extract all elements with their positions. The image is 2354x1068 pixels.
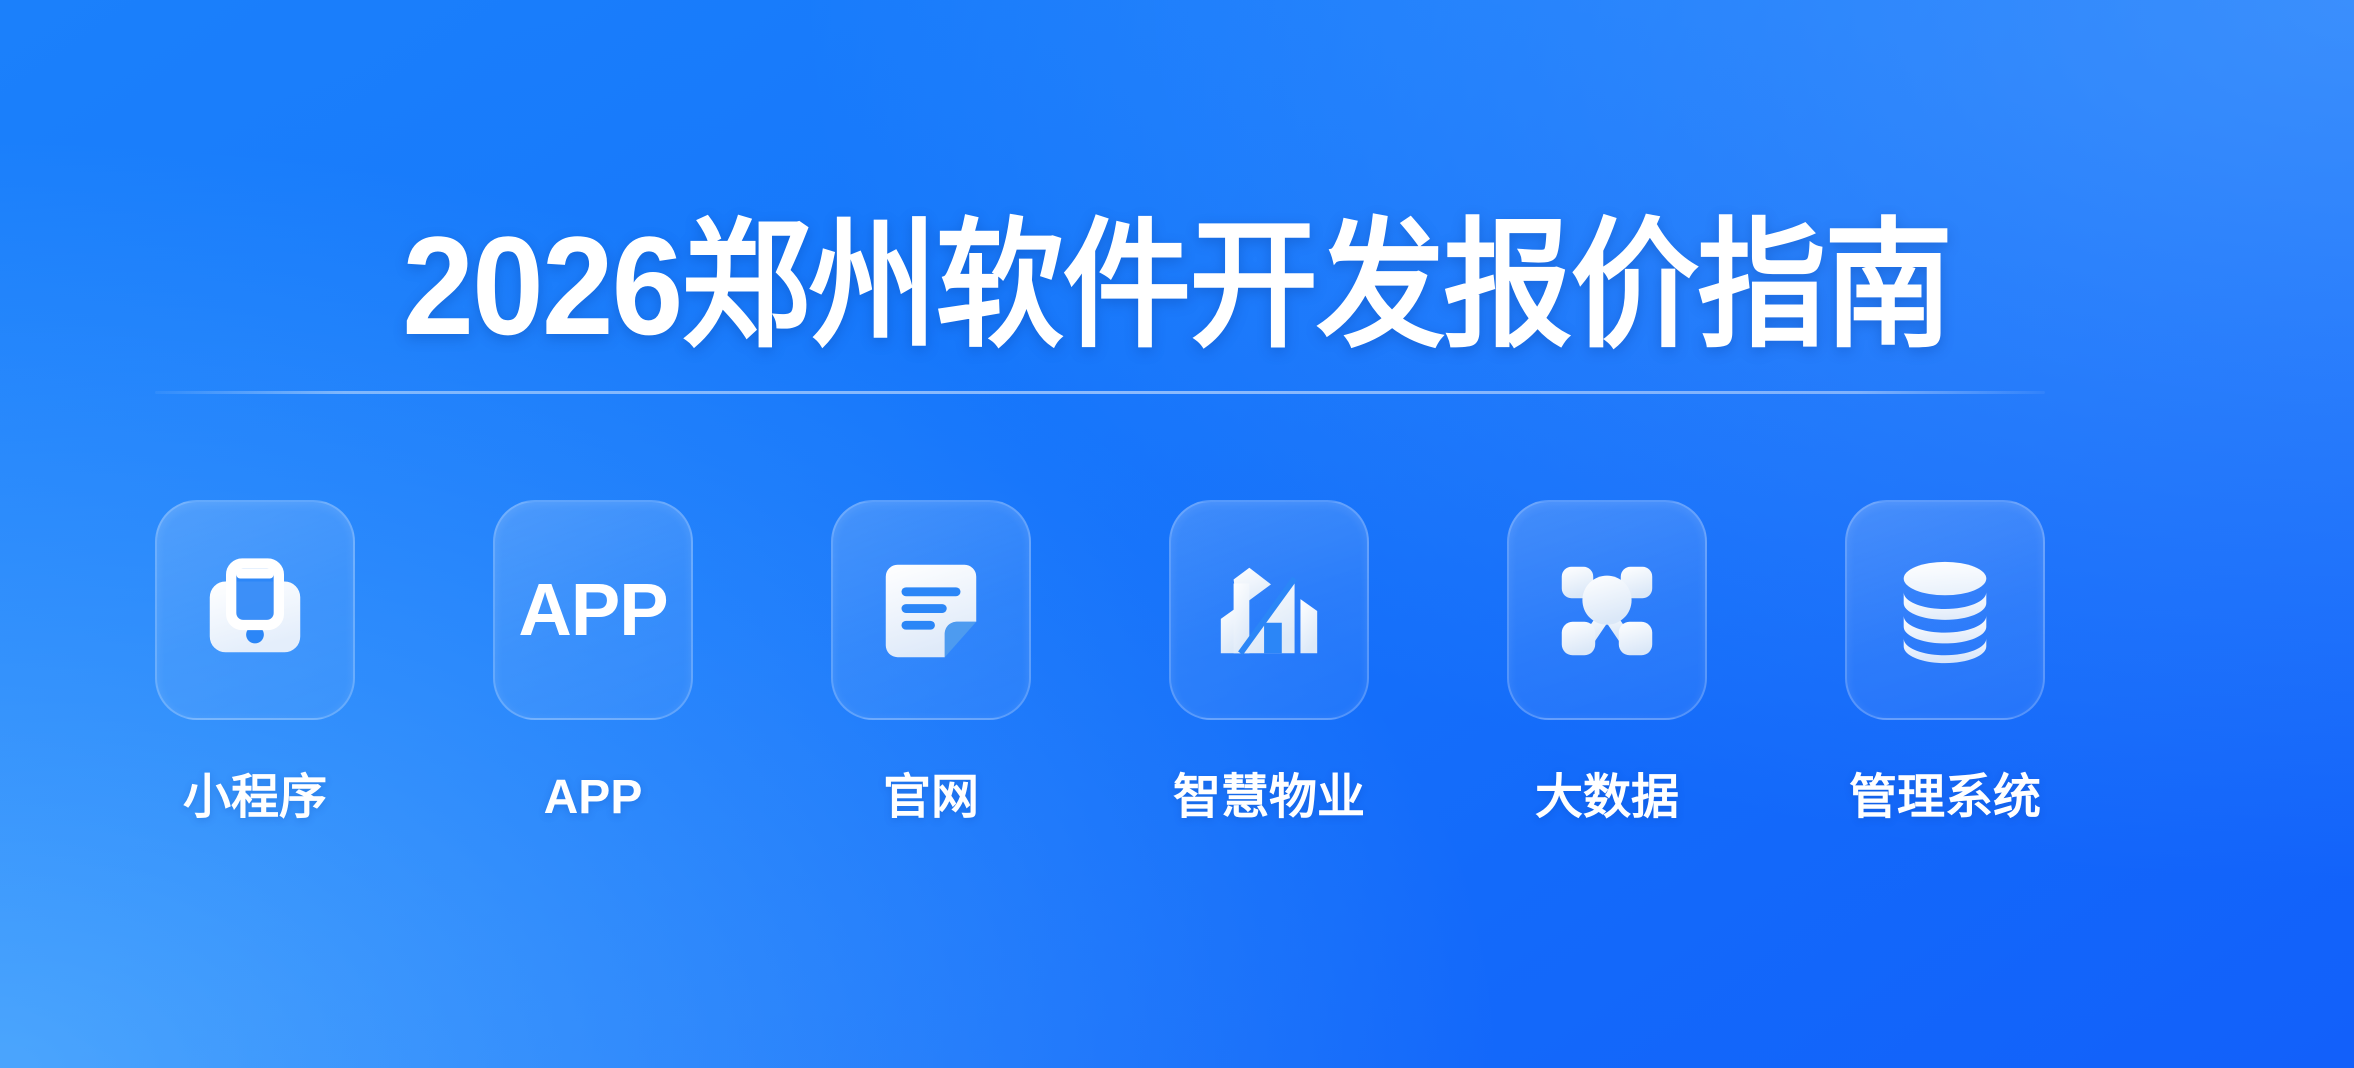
service-tiles-row: 小程序 APP APP <box>155 500 2045 822</box>
service-tile-label: 大数据 <box>1535 774 1679 822</box>
banner-title-wrapper: 2026郑州软件开发报价指南 <box>0 118 2354 453</box>
section-divider <box>155 391 2045 394</box>
service-tile-card[interactable] <box>155 500 355 720</box>
service-tile-card[interactable] <box>1845 500 2045 720</box>
document-icon <box>872 551 990 669</box>
service-tile-management-system[interactable]: 管理系统 <box>1845 500 2045 822</box>
service-tile-label: 智慧物业 <box>1173 774 1365 822</box>
service-tile-label: 官网 <box>883 774 979 822</box>
service-tile-website[interactable]: 官网 <box>831 500 1031 822</box>
mini-program-icon <box>196 551 314 669</box>
service-tile-label: 管理系统 <box>1849 774 2041 822</box>
page-title: 2026郑州软件开发报价指南 <box>403 212 1952 359</box>
service-tile-label: APP <box>544 774 643 822</box>
service-tile-card[interactable] <box>831 500 1031 720</box>
banner-content: 2026郑州软件开发报价指南 <box>0 0 2354 1068</box>
service-tile-card[interactable] <box>1169 500 1369 720</box>
building-icon <box>1210 551 1328 669</box>
database-icon <box>1886 551 2004 669</box>
promo-banner: 2026郑州软件开发报价指南 <box>0 0 2354 1068</box>
network-nodes-icon <box>1548 551 1666 669</box>
service-tile-label: 小程序 <box>183 774 327 822</box>
service-tile-big-data[interactable]: 大数据 <box>1507 500 1707 822</box>
service-tile-card[interactable]: APP <box>493 500 693 720</box>
service-tile-app[interactable]: APP APP <box>493 500 693 822</box>
service-tile-smart-property[interactable]: 智慧物业 <box>1169 500 1369 822</box>
app-icon: APP <box>534 551 652 669</box>
service-tile-card[interactable] <box>1507 500 1707 720</box>
service-tile-mini-program[interactable]: 小程序 <box>155 500 355 822</box>
